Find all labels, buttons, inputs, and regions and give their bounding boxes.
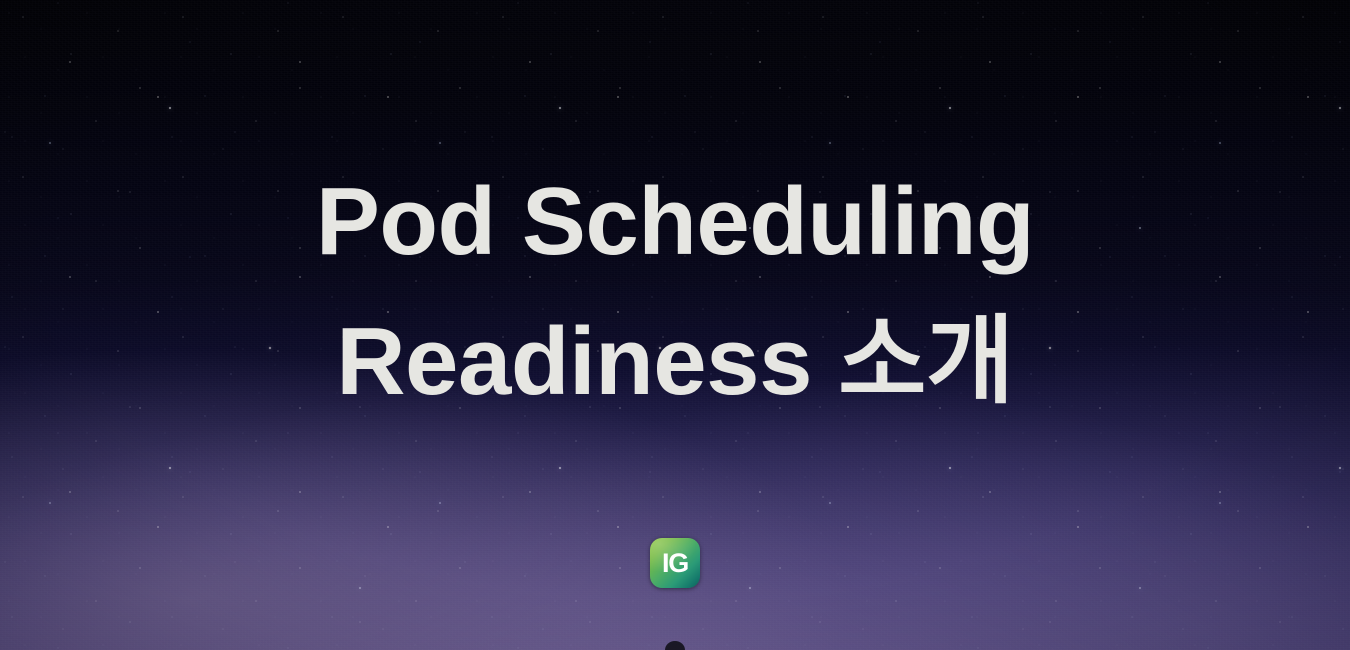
page-title-line-2: Readiness 소개 [175,292,1175,432]
title-slide: Pod Scheduling Readiness 소개 IG [0,0,1350,650]
page-title: Pod Scheduling Readiness 소개 [175,152,1175,432]
ig-brand-logo-icon: IG [650,538,700,588]
page-title-line-1: Pod Scheduling [175,152,1175,292]
brand-logo-label: IG [662,550,688,577]
